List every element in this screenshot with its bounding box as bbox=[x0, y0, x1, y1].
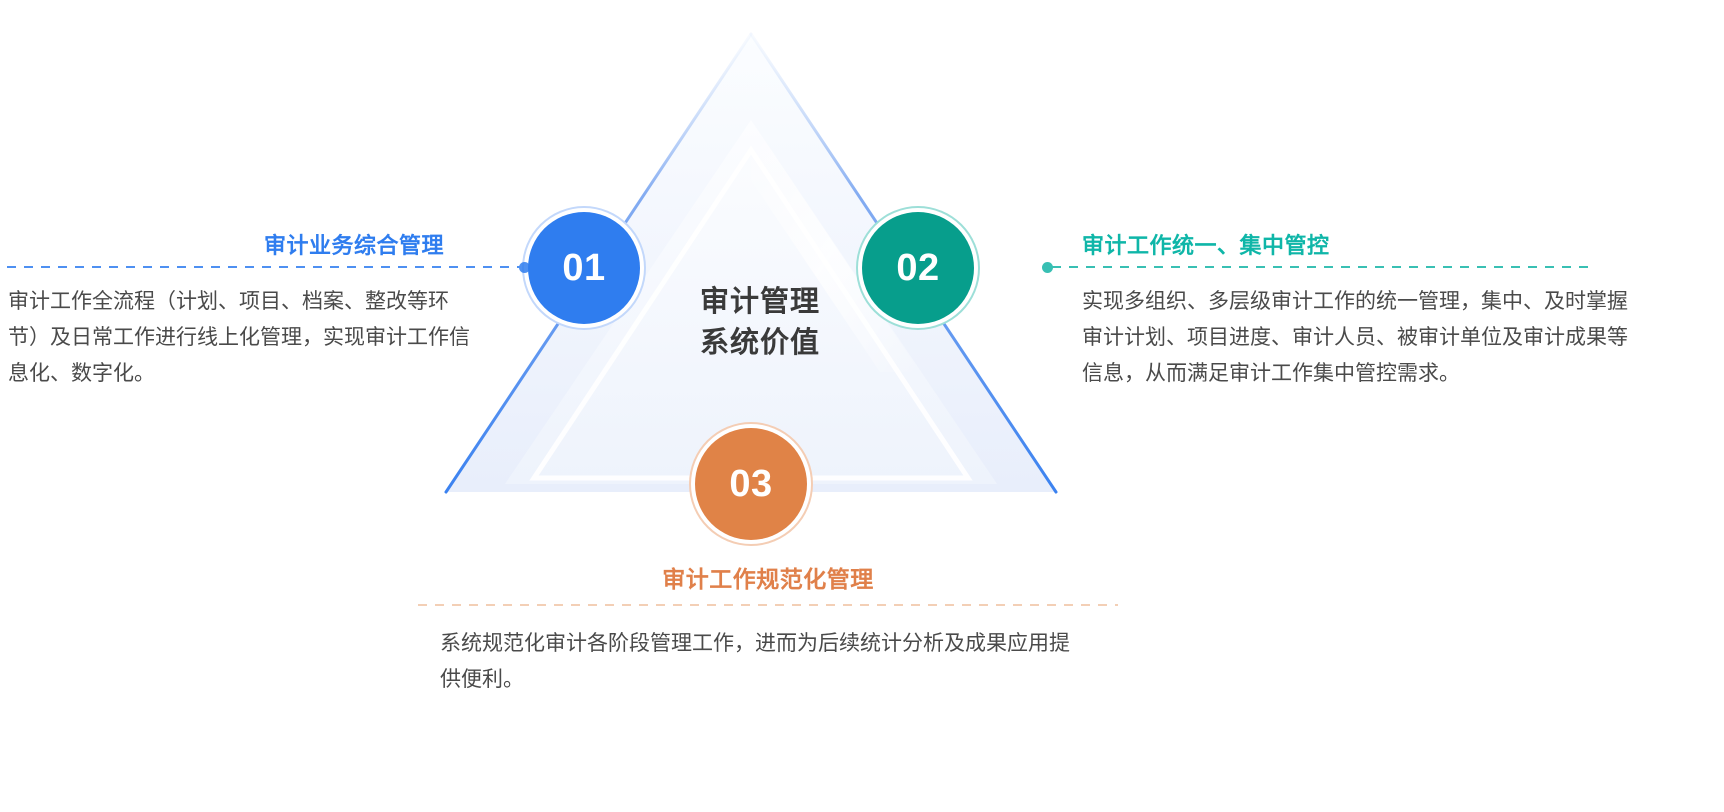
panel-heading-03: 审计工作规范化管理 bbox=[418, 560, 1118, 594]
panel-body-03: 系统规范化审计各阶段管理工作，进而为后续统计分析及成果应用提供便利。 bbox=[418, 626, 1118, 698]
number-label-01: 01 bbox=[562, 247, 605, 290]
infographic-canvas: 审计管理 系统价值 01 02 03 审计业务综合管理 审计工作全流程（计划、项… bbox=[0, 0, 1724, 812]
center-title-line1: 审计管理 bbox=[700, 286, 820, 318]
panel-item-03: 审计工作规范化管理 系统规范化审计各阶段管理工作，进而为后续统计分析及成果应用提… bbox=[418, 560, 1118, 698]
panel-body-02: 实现多组织、多层级审计工作的统一管理，集中、及时掌握审计计划、项目进度、审计人员… bbox=[1072, 284, 1724, 392]
center-title: 审计管理 系统价值 bbox=[660, 282, 860, 364]
number-label-02: 02 bbox=[896, 247, 939, 290]
number-circle-02[interactable]: 02 bbox=[862, 212, 974, 324]
connector-dot-02 bbox=[1042, 262, 1053, 273]
number-label-03: 03 bbox=[729, 463, 772, 506]
number-circle-01[interactable]: 01 bbox=[528, 212, 640, 324]
number-circle-03[interactable]: 03 bbox=[695, 428, 807, 540]
connector-dot-01 bbox=[519, 262, 530, 273]
panel-rule-03 bbox=[418, 604, 1118, 606]
panel-heading-02: 审计工作统一、集中管控 bbox=[1072, 228, 1724, 260]
panel-item-01: 审计业务综合管理 审计工作全流程（计划、项目、档案、整改等环节）及日常工作进行线… bbox=[0, 228, 540, 392]
panel-rule-02 bbox=[1052, 266, 1594, 268]
center-title-line2: 系统价值 bbox=[660, 323, 860, 364]
panel-body-01: 审计工作全流程（计划、项目、档案、整改等环节）及日常工作进行线上化管理，实现审计… bbox=[0, 284, 540, 392]
panel-rule-01 bbox=[0, 266, 522, 268]
panel-item-02: 审计工作统一、集中管控 实现多组织、多层级审计工作的统一管理，集中、及时掌握审计… bbox=[1072, 228, 1724, 392]
panel-heading-01: 审计业务综合管理 bbox=[0, 228, 540, 260]
